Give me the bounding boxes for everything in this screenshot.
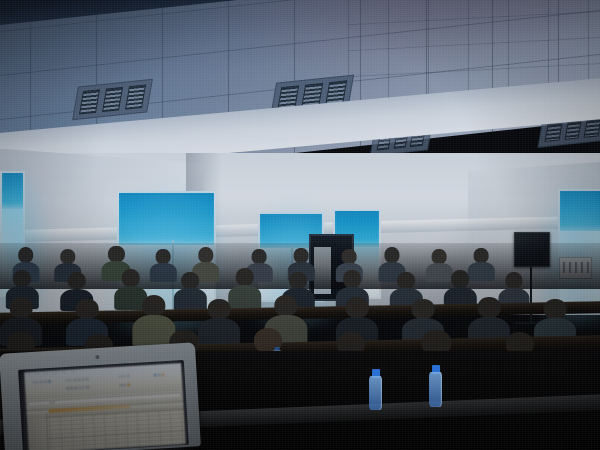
water-bottle-foreground[interactable] <box>369 369 382 410</box>
ribbon-group-font[interactable] <box>66 377 89 381</box>
ribbon-tab-view[interactable]: View <box>70 370 75 374</box>
light-louver-section <box>584 119 600 138</box>
light-louver-section <box>544 123 562 142</box>
audience-member <box>150 249 176 282</box>
light-louver-section <box>564 121 582 140</box>
light-louver-section <box>125 85 146 111</box>
ribbon-tab-layout[interactable]: Layout <box>52 371 59 375</box>
laptop-bezel: File Home Insert Layout Data View <box>18 360 189 450</box>
laptop-screen[interactable]: File Home Insert Layout Data View <box>25 363 186 450</box>
ribbon-tab-data[interactable]: Data <box>62 371 67 375</box>
photo-scene: ▩▩▩ ▩▩▩ File Home Insert Layout <box>0 0 600 450</box>
ribbon-group-alignment[interactable] <box>66 386 89 390</box>
ribbon-tab-file[interactable]: File <box>27 373 31 377</box>
ribbon-tab-home[interactable]: Home <box>33 373 40 377</box>
ribbon-group-clipboard[interactable] <box>31 380 50 384</box>
ribbon-tab-insert[interactable]: Insert <box>43 372 49 376</box>
ribbon-group-editing[interactable] <box>153 374 164 378</box>
presenter-laptop[interactable]: File Home Insert Layout Data View <box>0 342 201 450</box>
water-bottle-foreground[interactable] <box>429 365 442 408</box>
light-louver-section <box>79 90 100 116</box>
spreadsheet-row-labels <box>27 413 49 450</box>
ribbon-group-styles[interactable] <box>119 383 130 387</box>
ribbon-tabs[interactable]: File Home Insert Layout Data View <box>27 370 76 377</box>
ribbon-group-number[interactable] <box>119 374 130 378</box>
light-louver-section <box>102 87 123 113</box>
